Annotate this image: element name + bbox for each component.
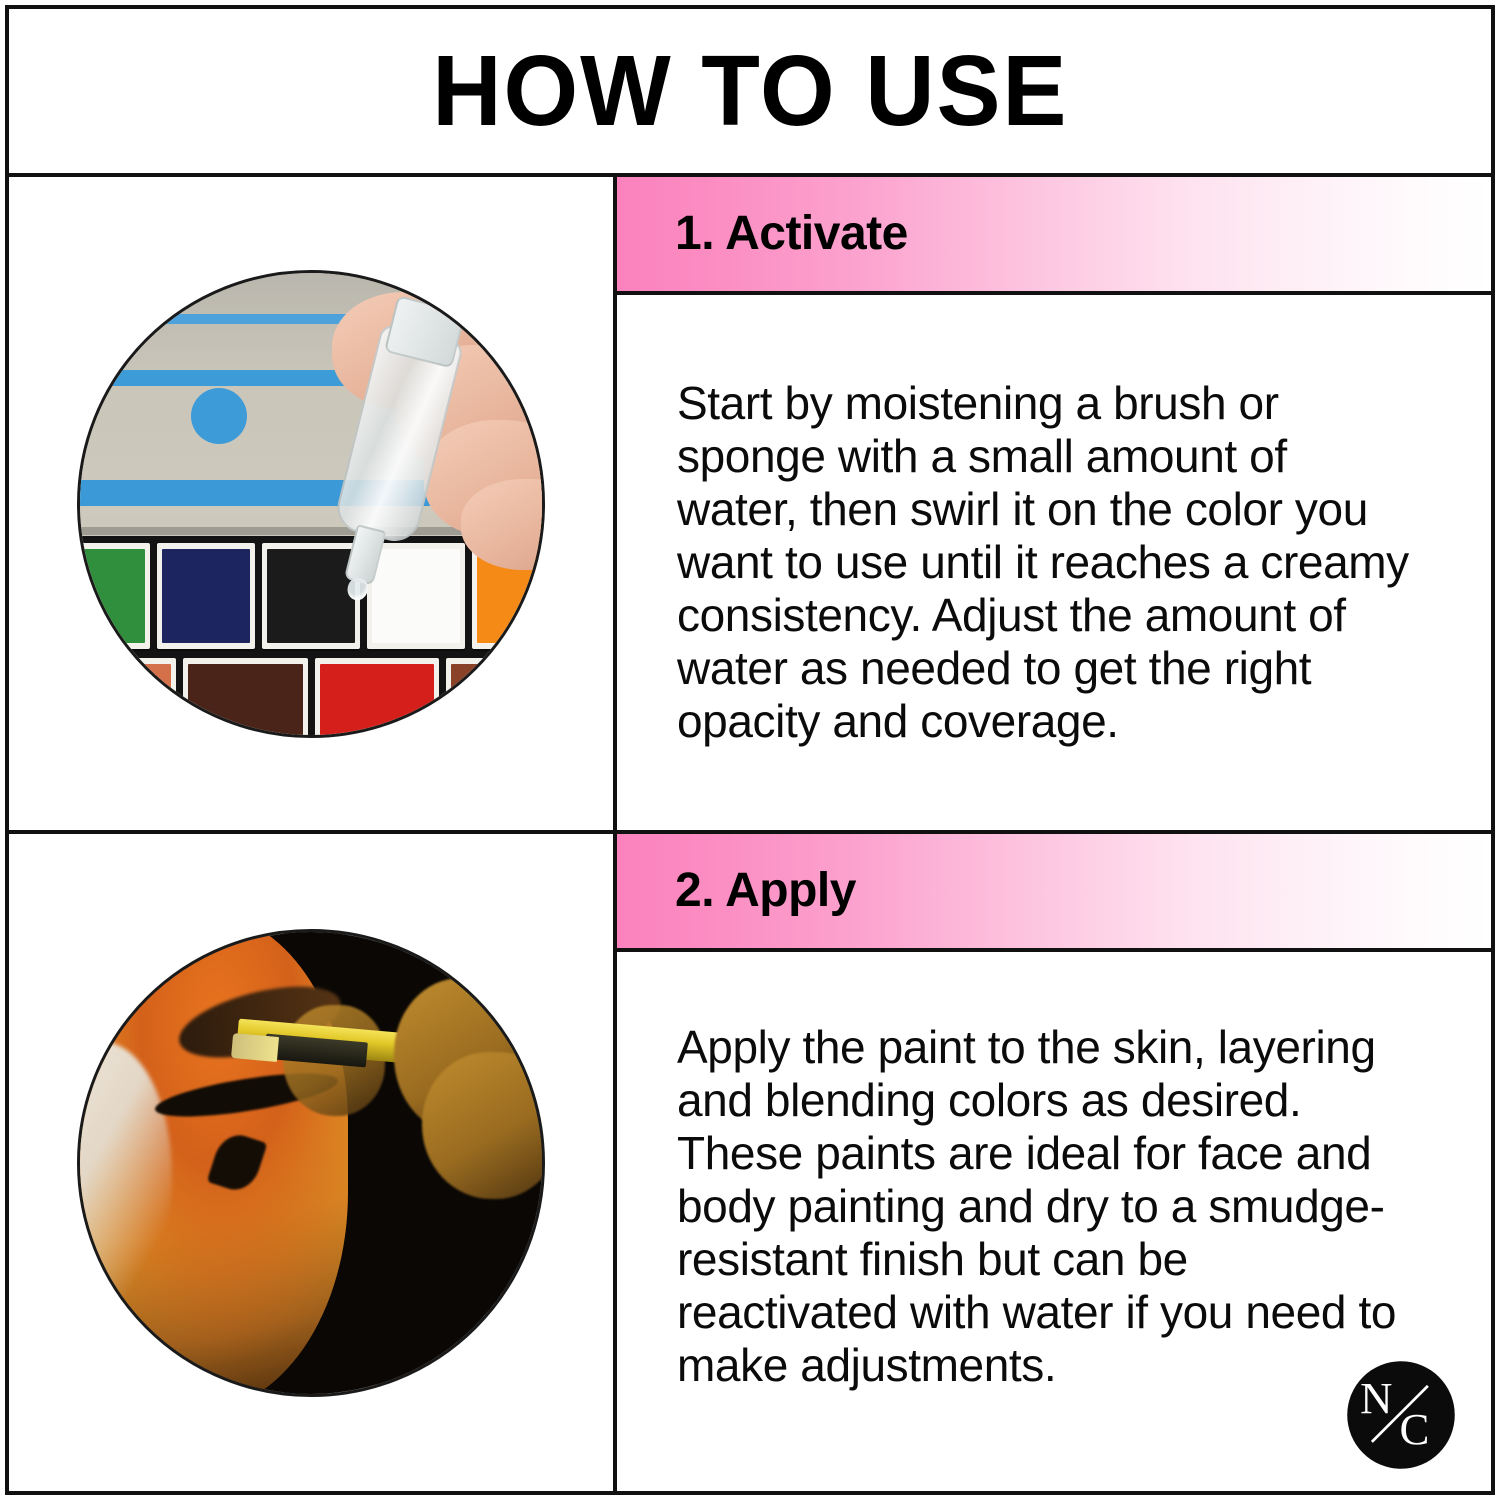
step-2-body: Apply the paint to the skin, layering an… bbox=[617, 952, 1491, 1491]
step-2-media-cell bbox=[9, 834, 617, 1491]
step-row-apply: 2. Apply Apply the paint to the skin, la… bbox=[9, 834, 1491, 1491]
step-1-header: 1. Activate bbox=[617, 177, 1491, 295]
page-title: HOW TO USE bbox=[432, 41, 1068, 141]
step-2-header: 2. Apply bbox=[617, 834, 1491, 952]
logo-letter-n: N bbox=[1360, 1373, 1392, 1423]
brush-applying-paint-to-face-photo bbox=[77, 929, 545, 1397]
step-2-heading: 2. Apply bbox=[675, 867, 856, 915]
step-1-content-cell: 1. Activate Start by moistening a brush … bbox=[617, 177, 1491, 830]
step-1-body: Start by moistening a brush or sponge wi… bbox=[617, 295, 1491, 830]
paint-pan bbox=[315, 658, 439, 737]
step-row-activate: 1. Activate Start by moistening a brush … bbox=[9, 177, 1491, 834]
step-1-body-text: Start by moistening a brush or sponge wi… bbox=[677, 377, 1417, 748]
paint-pan bbox=[446, 658, 545, 737]
how-to-use-poster: HOW TO USE bbox=[0, 0, 1500, 1500]
background-dot bbox=[191, 388, 247, 444]
palette-row-bottom bbox=[77, 658, 545, 737]
title-band: HOW TO USE bbox=[9, 9, 1491, 177]
paint-pan bbox=[157, 543, 255, 649]
brush-tip bbox=[231, 1033, 279, 1062]
paint-pan bbox=[77, 543, 150, 649]
step-1-heading: 1. Activate bbox=[675, 210, 908, 258]
step-2-body-text: Apply the paint to the skin, layering an… bbox=[677, 1021, 1417, 1392]
dropper-bottle-over-paint-palette-photo bbox=[77, 270, 545, 738]
step-2-content-cell: 2. Apply Apply the paint to the skin, la… bbox=[617, 834, 1491, 1491]
paint-pan bbox=[183, 658, 307, 737]
logo-letter-c: C bbox=[1399, 1404, 1429, 1454]
step-1-media-cell bbox=[9, 177, 617, 830]
paint-pan bbox=[77, 658, 176, 737]
steps-container: 1. Activate Start by moistening a brush … bbox=[9, 177, 1491, 1491]
poster-frame: HOW TO USE bbox=[5, 5, 1495, 1495]
nc-monogram-logo: N C bbox=[1345, 1359, 1457, 1471]
